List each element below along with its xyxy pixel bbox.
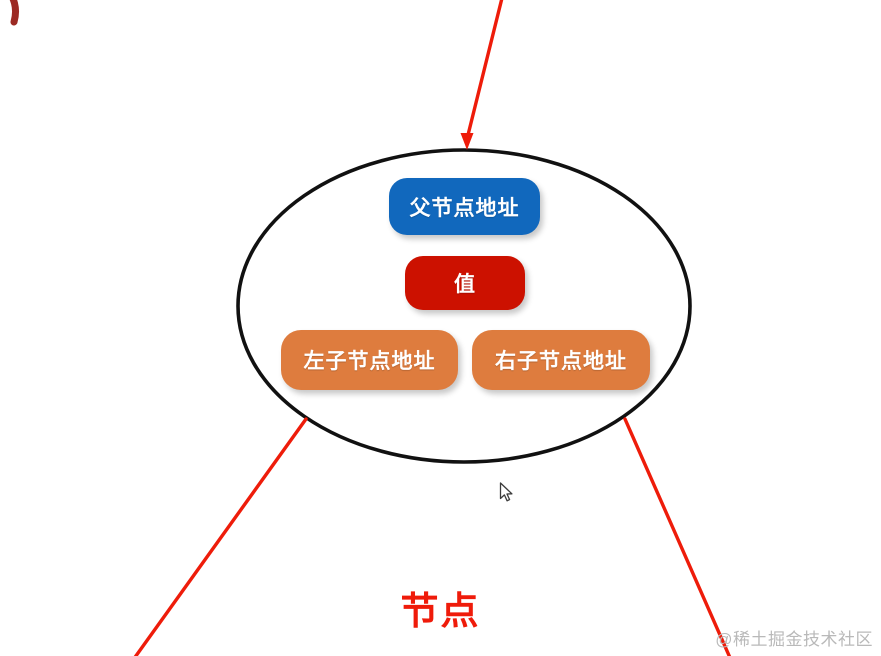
field-value-label: 值: [454, 268, 476, 298]
incoming-parent-edge: [467, 0, 503, 139]
field-right-child-pointer[interactable]: 右子节点地址: [472, 330, 650, 390]
field-value[interactable]: 值: [405, 256, 525, 310]
top-left-stroke-fragment: [6, 0, 16, 22]
incoming-parent-arrowhead: [461, 133, 474, 150]
watermark: @稀土掘金技术社区: [715, 625, 873, 650]
mouse-cursor-icon: [499, 482, 515, 504]
field-left-child-pointer-label: 左子节点地址: [304, 345, 436, 375]
field-parent-pointer-label: 父节点地址: [410, 192, 520, 222]
field-left-child-pointer[interactable]: 左子节点地址: [281, 330, 458, 390]
diagram-canvas: 父节点地址 值 左子节点地址 右子节点地址 节点 @稀土掘金技术社区: [0, 0, 881, 656]
field-parent-pointer[interactable]: 父节点地址: [389, 178, 540, 235]
vector-layer: [0, 0, 881, 656]
field-right-child-pointer-label: 右子节点地址: [495, 345, 627, 375]
